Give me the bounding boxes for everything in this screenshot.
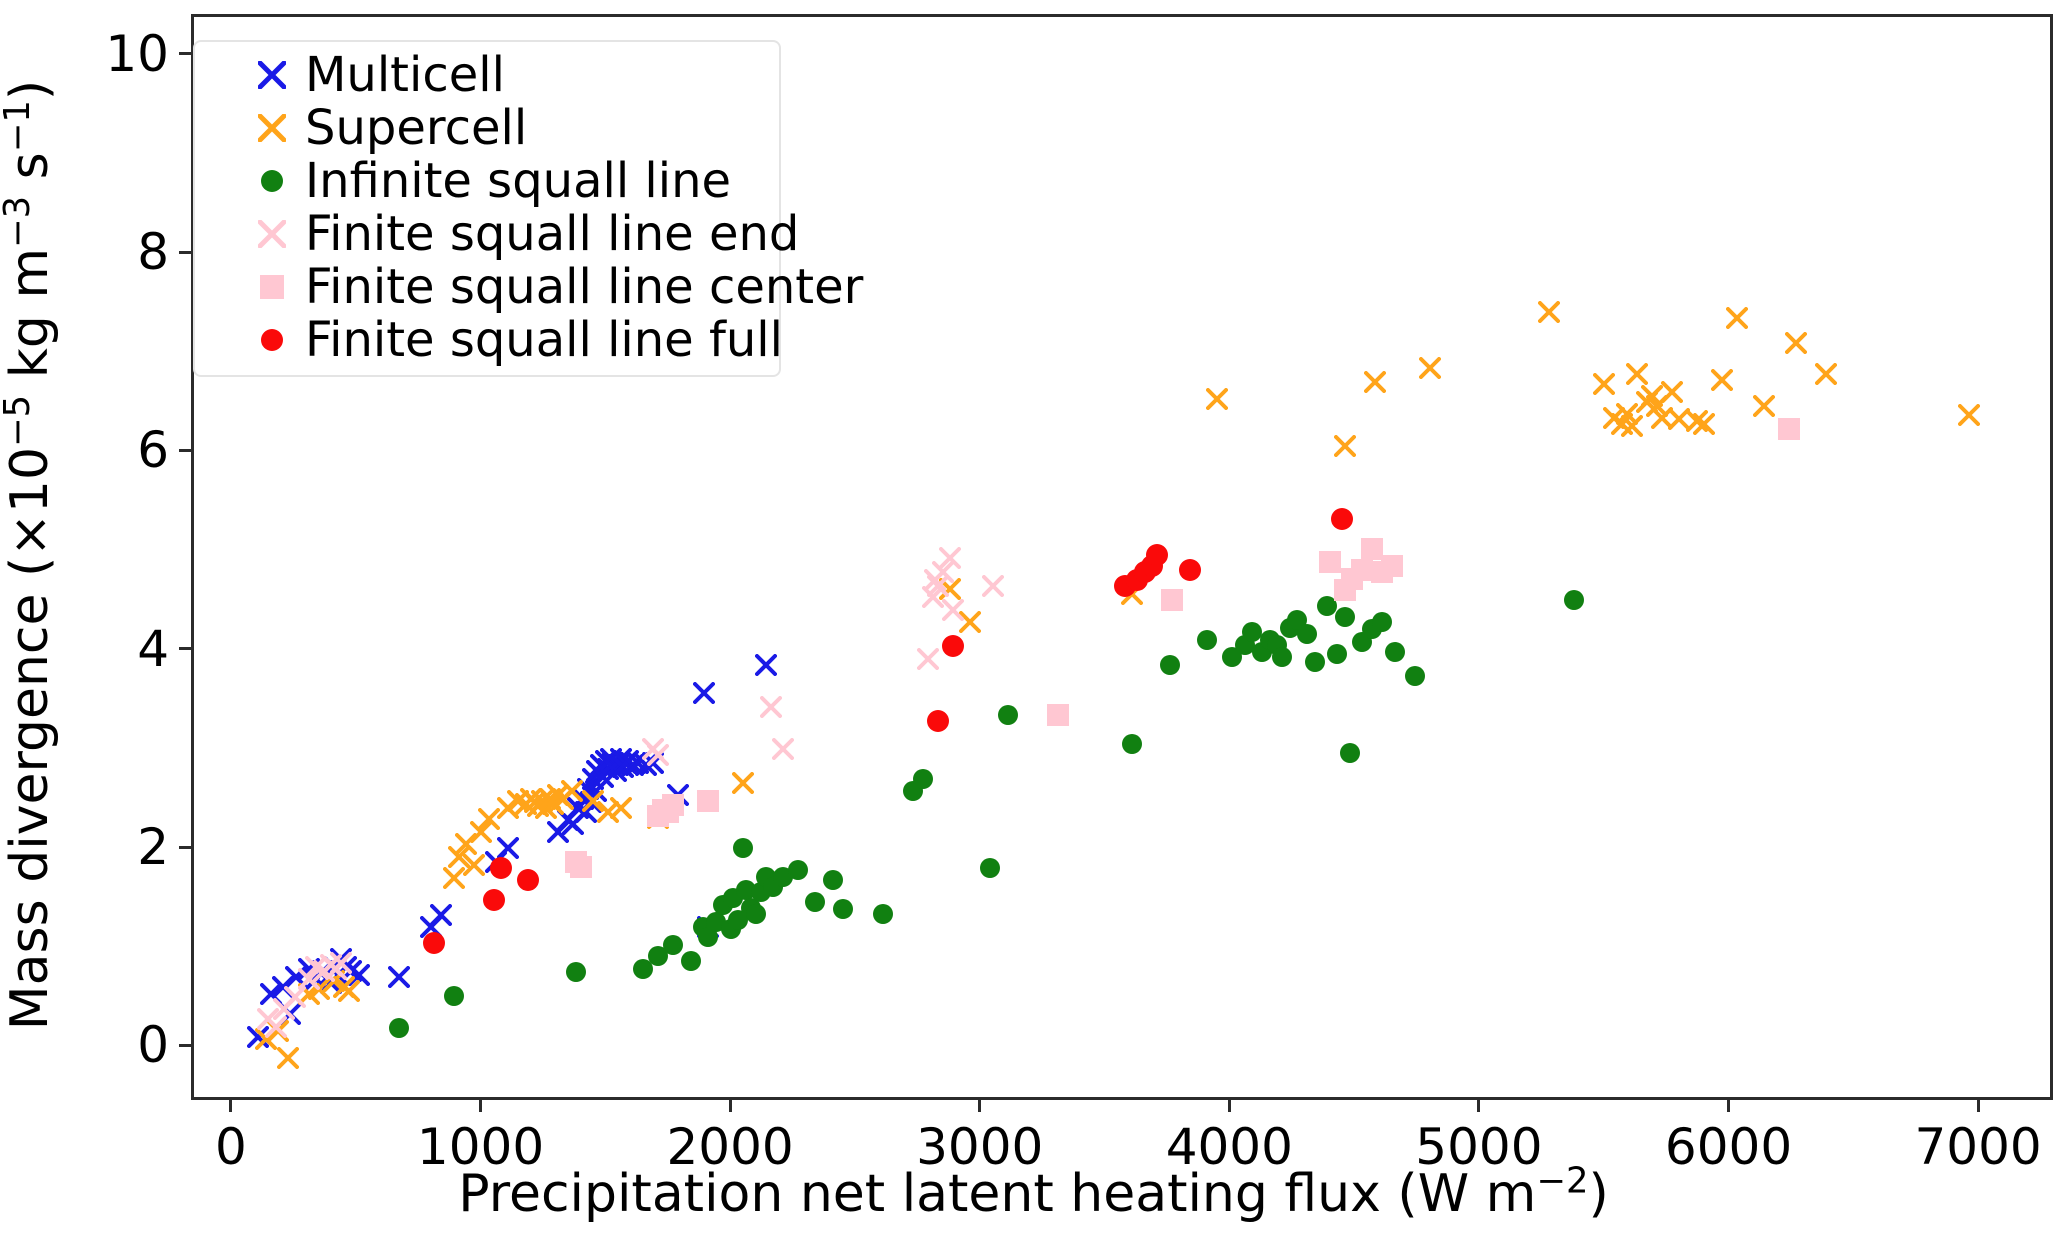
- data-point-cross: [922, 586, 944, 608]
- legend-marker-s: [250, 265, 294, 309]
- data-point-square: [1161, 589, 1183, 611]
- data-point-circle: [389, 1018, 409, 1038]
- data-point-cross: [1626, 363, 1648, 385]
- data-point-circle: [763, 877, 783, 897]
- data-point-cross: [1711, 369, 1733, 391]
- data-point-circle: [1272, 647, 1292, 667]
- data-point-circle: [1126, 569, 1148, 591]
- data-point-cross: [531, 790, 553, 812]
- x-axis-tick-label: 7000: [1914, 1122, 2041, 1172]
- data-point-cross: [298, 958, 320, 980]
- data-point-cross: [627, 752, 649, 774]
- data-point-cross: [330, 952, 352, 974]
- data-point-circle: [746, 904, 766, 924]
- data-point-cross: [455, 833, 477, 855]
- data-point-cross: [577, 778, 599, 800]
- data-point-cross: [615, 752, 637, 774]
- data-point-cross: [595, 750, 617, 772]
- legend-label: Infinite squall line: [305, 154, 731, 208]
- data-point-circle: [1242, 622, 1262, 642]
- data-point-cross: [592, 766, 614, 788]
- y-axis-label-exp1: −5: [0, 395, 38, 447]
- data-point-cross: [602, 752, 624, 774]
- data-point-cross: [257, 1008, 279, 1030]
- data-point-square: [657, 801, 679, 823]
- data-point-cross: [927, 575, 949, 597]
- data-point-square: [1319, 551, 1341, 573]
- data-point-cross: [335, 956, 357, 978]
- data-point-cross: [942, 599, 964, 621]
- data-point-cross: [420, 916, 442, 938]
- data-point-cross: [1785, 332, 1807, 354]
- data-point-circle: [1352, 632, 1372, 652]
- legend-item[interactable]: Finite squall line center: [195, 260, 779, 314]
- data-point-cross: [697, 916, 719, 938]
- data-point-circle: [756, 867, 776, 887]
- data-point-cross: [539, 788, 561, 810]
- data-point-cross: [515, 793, 537, 815]
- data-point-cross: [277, 1047, 299, 1069]
- data-point-cross: [561, 780, 583, 802]
- legend-marker-x: [250, 53, 294, 97]
- data-point-cross: [285, 966, 307, 988]
- data-point-cross: [1686, 410, 1708, 432]
- data-point-cross: [600, 748, 622, 770]
- x-axis-label: Precipitation net latent heating flux (W…: [0, 1168, 2067, 1220]
- data-point-circle: [483, 889, 505, 911]
- x-axis-label-pre: Precipitation net latent heating flux (W…: [458, 1164, 1536, 1224]
- legend-label: Supercell: [305, 101, 527, 155]
- data-point-circle: [751, 882, 771, 902]
- data-point-cross: [308, 978, 330, 1000]
- data-point-cross: [917, 648, 939, 670]
- data-point-cross: [330, 948, 352, 970]
- x-axis-tick-label: 6000: [1665, 1122, 1792, 1172]
- data-point-square: [1371, 561, 1393, 583]
- data-point-cross: [1753, 395, 1775, 417]
- data-point-cross: [1206, 388, 1228, 410]
- data-point-cross: [340, 960, 362, 982]
- data-point-cross: [430, 904, 452, 926]
- data-point-circle: [444, 986, 464, 1006]
- data-point-cross: [247, 1026, 269, 1048]
- data-point-cross: [586, 760, 608, 782]
- data-point-cross: [1611, 413, 1633, 435]
- data-point-circle: [713, 895, 733, 915]
- legend-marker-x: [250, 106, 294, 150]
- data-point-cross: [388, 966, 410, 988]
- data-point-cross: [1621, 415, 1643, 437]
- data-point-square: [1361, 538, 1383, 560]
- data-point-circle: [1280, 618, 1300, 638]
- data-point-cross: [982, 575, 1004, 597]
- data-point-square: [647, 805, 669, 827]
- data-point-cross: [693, 682, 715, 704]
- data-point-cross: [547, 784, 569, 806]
- data-point-cross: [547, 821, 569, 843]
- data-point-cross: [1651, 407, 1673, 429]
- legend-label: Finite squall line end: [305, 207, 799, 261]
- data-point-cross: [612, 756, 634, 778]
- data-point-circle: [261, 170, 283, 192]
- data-point-square: [570, 856, 592, 878]
- legend-item[interactable]: Finite squall line full: [195, 313, 779, 367]
- data-point-cross: [520, 788, 542, 810]
- data-point-cross: [610, 748, 632, 770]
- data-point-circle: [728, 910, 748, 930]
- y-axis-tick: [179, 1044, 191, 1047]
- data-point-cross: [732, 772, 754, 794]
- data-point-cross: [273, 998, 295, 1020]
- data-point-cross: [597, 758, 619, 780]
- data-point-cross: [317, 966, 339, 988]
- data-point-circle: [1405, 666, 1425, 686]
- data-point-circle: [1362, 619, 1382, 639]
- x-axis-tick: [479, 1100, 482, 1112]
- y-axis-label-exp2: −3: [0, 196, 38, 248]
- data-point-cross: [258, 220, 286, 248]
- data-point-circle: [1122, 734, 1142, 754]
- y-axis-tick-label: 8: [137, 227, 169, 277]
- data-point-cross: [622, 754, 644, 776]
- data-point-cross: [535, 797, 557, 819]
- data-point-cross: [582, 768, 604, 790]
- data-point-cross: [1419, 357, 1441, 379]
- data-point-square: [1778, 418, 1800, 440]
- y-axis-tick-label: 6: [137, 425, 169, 475]
- data-point-circle: [1564, 590, 1584, 610]
- data-point-circle: [1267, 635, 1287, 655]
- data-point-cross: [1603, 407, 1625, 429]
- data-point-circle: [736, 880, 756, 900]
- data-point-cross: [585, 780, 607, 802]
- legend-box: MulticellSupercellInfinite squall lineFi…: [193, 40, 781, 377]
- x-axis-tick-label: 0: [215, 1122, 247, 1172]
- data-point-cross: [305, 956, 327, 978]
- data-point-cross: [552, 788, 574, 810]
- data-point-circle: [1260, 630, 1280, 650]
- data-point-cross: [635, 754, 657, 776]
- data-point-circle: [633, 959, 653, 979]
- data-point-cross: [312, 960, 334, 982]
- data-point-cross: [575, 801, 597, 823]
- data-point-cross: [1538, 301, 1560, 323]
- y-axis-tick: [179, 449, 191, 452]
- data-point-circle: [980, 858, 1000, 878]
- data-point-cross: [647, 744, 669, 766]
- data-point-cross: [617, 750, 639, 772]
- data-point-cross: [582, 790, 604, 812]
- data-point-cross: [1593, 373, 1615, 395]
- data-point-cross: [448, 846, 470, 868]
- data-point-circle: [663, 935, 683, 955]
- data-point-square: [652, 799, 674, 821]
- data-point-circle: [927, 710, 949, 732]
- x-axis-tick: [1477, 1100, 1480, 1112]
- data-point-circle: [1372, 612, 1392, 632]
- data-point-square: [565, 851, 587, 873]
- data-point-square: [1341, 568, 1363, 590]
- data-point-cross: [485, 851, 507, 873]
- x-axis-tick: [1727, 1100, 1730, 1112]
- x-axis-tick: [978, 1100, 981, 1112]
- data-point-circle: [873, 904, 893, 924]
- data-point-square: [697, 790, 719, 812]
- data-point-circle: [1114, 575, 1136, 597]
- x-axis-tick: [229, 1100, 232, 1112]
- legend-item[interactable]: Infinite squall line: [195, 154, 779, 208]
- data-point-cross: [313, 960, 335, 982]
- data-point-circle: [823, 870, 843, 890]
- data-point-cross: [557, 809, 579, 831]
- data-point-cross: [605, 760, 627, 782]
- data-point-circle: [1146, 544, 1168, 566]
- x-axis-label-exp: −2: [1536, 1161, 1588, 1202]
- data-point-circle: [423, 932, 445, 954]
- data-point-cross: [1334, 435, 1356, 457]
- data-point-cross: [524, 791, 546, 813]
- y-axis-tick-label: 2: [137, 822, 169, 872]
- y-axis-tick: [179, 251, 191, 254]
- data-point-square: [662, 794, 684, 816]
- data-point-cross: [320, 954, 342, 976]
- data-point-cross: [327, 964, 349, 986]
- data-point-cross: [348, 964, 370, 986]
- data-point-circle: [1160, 655, 1180, 675]
- data-point-cross: [298, 983, 320, 1005]
- data-point-cross: [325, 958, 347, 980]
- data-point-cross: [1815, 363, 1837, 385]
- data-point-circle: [698, 927, 718, 947]
- data-point-cross: [507, 790, 529, 812]
- data-point-cross: [1616, 403, 1638, 425]
- legend-item[interactable]: Finite squall line end: [195, 207, 779, 261]
- data-point-circle: [566, 962, 586, 982]
- data-point-circle: [1179, 559, 1201, 581]
- data-point-cross: [298, 968, 320, 990]
- data-point-cross: [642, 738, 664, 760]
- data-point-circle: [788, 860, 808, 880]
- data-point-circle: [490, 857, 512, 879]
- data-point-square: [260, 275, 284, 299]
- data-point-circle: [903, 781, 923, 801]
- data-point-cross: [258, 114, 286, 142]
- data-point-circle: [648, 946, 668, 966]
- data-point-cross: [567, 797, 589, 819]
- data-point-circle: [1317, 596, 1337, 616]
- data-point-cross: [1636, 391, 1658, 413]
- x-axis-label-post: ): [1588, 1164, 1608, 1224]
- data-point-cross: [580, 791, 602, 813]
- data-point-cross: [272, 976, 294, 998]
- data-point-cross: [760, 696, 782, 718]
- data-point-cross: [320, 972, 342, 994]
- data-point-cross: [305, 968, 327, 990]
- data-point-cross: [642, 752, 664, 774]
- data-point-cross: [1661, 381, 1683, 403]
- legend-label: Multicell: [305, 48, 505, 102]
- data-point-circle: [681, 951, 701, 971]
- data-point-circle: [1335, 607, 1355, 627]
- legend-label: Finite squall line full: [305, 313, 783, 367]
- data-point-circle: [693, 917, 713, 937]
- y-axis-label-post: ): [0, 80, 60, 100]
- data-point-cross: [333, 976, 355, 998]
- data-point-circle: [723, 888, 743, 908]
- data-point-circle: [1287, 610, 1307, 630]
- data-point-cross: [1646, 395, 1668, 417]
- data-point-cross: [590, 754, 612, 776]
- data-point-circle: [1197, 630, 1217, 650]
- data-point-cross: [478, 808, 500, 830]
- legend-item[interactable]: Multicell: [195, 48, 779, 102]
- y-axis-tick: [179, 846, 191, 849]
- data-point-cross: [772, 738, 794, 760]
- data-point-circle: [1235, 635, 1255, 655]
- x-axis-tick: [1977, 1100, 1980, 1112]
- data-point-cross: [497, 797, 519, 819]
- data-point-circle: [741, 898, 761, 918]
- legend-marker-o: [250, 159, 294, 203]
- data-point-square: [1334, 579, 1356, 601]
- data-point-circle: [1385, 642, 1405, 662]
- data-point-cross: [1364, 371, 1386, 393]
- data-point-circle: [1340, 743, 1360, 763]
- data-point-circle: [1222, 647, 1242, 667]
- data-point-cross: [939, 578, 961, 600]
- data-point-cross: [542, 793, 564, 815]
- data-point-square: [1047, 704, 1069, 726]
- data-point-circle: [1141, 555, 1163, 577]
- data-point-cross: [284, 986, 306, 1008]
- data-point-square: [1351, 559, 1373, 581]
- data-point-circle: [517, 869, 539, 891]
- data-point-cross: [1958, 404, 1980, 426]
- x-axis-tick: [1228, 1100, 1231, 1112]
- data-point-circle: [261, 329, 283, 351]
- data-point-cross: [267, 1020, 289, 1042]
- y-axis-label-exp3: −1: [0, 100, 38, 152]
- data-point-cross: [1726, 307, 1748, 329]
- data-point-cross: [597, 801, 619, 823]
- legend-marker-x: [250, 212, 294, 256]
- data-point-cross: [755, 654, 777, 676]
- data-point-circle: [733, 838, 753, 858]
- data-point-cross: [323, 970, 345, 992]
- data-point-circle: [773, 867, 793, 887]
- y-axis-label-pre: Mass divergence (×10: [0, 447, 60, 1030]
- data-point-cross: [959, 611, 981, 633]
- data-point-circle: [913, 769, 933, 789]
- data-point-cross: [279, 1003, 301, 1025]
- data-point-cross: [939, 547, 961, 569]
- data-point-cross: [562, 813, 584, 835]
- data-point-cross: [470, 821, 492, 843]
- y-axis-label: Mass divergence (×10−5 kg m−3 s−1): [4, 80, 56, 1030]
- data-point-cross: [323, 956, 345, 978]
- data-point-circle: [1134, 561, 1156, 583]
- legend-label: Finite squall line center: [305, 260, 863, 314]
- data-point-cross: [1693, 413, 1715, 435]
- figure-canvas: Mass divergence (×10−5 kg m−3 s−1) 01000…: [0, 0, 2067, 1238]
- data-point-cross: [607, 754, 629, 776]
- x-axis-tick: [729, 1100, 732, 1112]
- data-point-cross: [258, 61, 286, 89]
- data-point-cross: [527, 795, 549, 817]
- data-point-circle: [1252, 642, 1272, 662]
- data-point-cross: [1121, 583, 1143, 605]
- legend-marker-o: [250, 318, 294, 362]
- data-point-cross: [338, 980, 360, 1002]
- data-point-cross: [932, 561, 954, 583]
- data-point-cross: [260, 983, 282, 1005]
- y-axis-tick-label: 4: [137, 624, 169, 674]
- data-point-circle: [1305, 652, 1325, 672]
- data-point-cross: [572, 788, 594, 810]
- data-point-cross: [255, 1028, 277, 1050]
- legend-item[interactable]: Supercell: [195, 101, 779, 155]
- data-point-cross: [610, 797, 632, 819]
- data-point-cross: [497, 837, 519, 859]
- data-point-cross: [265, 1016, 287, 1038]
- data-point-circle: [1331, 508, 1353, 530]
- data-point-cross: [1668, 408, 1690, 430]
- data-point-circle: [1297, 624, 1317, 644]
- y-axis-tick: [179, 52, 191, 55]
- data-point-cross: [647, 807, 669, 829]
- y-axis-tick-label: 0: [137, 1020, 169, 1070]
- y-axis-label-mid2: s: [0, 152, 60, 196]
- y-axis-tick-label: 10: [105, 29, 169, 79]
- data-point-cross: [924, 569, 946, 591]
- data-point-circle: [1327, 644, 1347, 664]
- data-point-circle: [706, 912, 726, 932]
- data-point-circle: [805, 892, 825, 912]
- data-point-circle: [942, 635, 964, 657]
- y-axis-tick: [179, 647, 191, 650]
- y-axis-label-mid: kg m: [0, 248, 60, 395]
- data-point-cross: [463, 854, 485, 876]
- data-point-cross: [667, 784, 689, 806]
- data-point-circle: [998, 705, 1018, 725]
- data-point-cross: [1641, 385, 1663, 407]
- data-point-square: [1381, 555, 1403, 577]
- data-point-circle: [721, 919, 741, 939]
- y-axis-label-container: Mass divergence (×10−5 kg m−3 s−1): [0, 0, 60, 1110]
- data-point-circle: [833, 899, 853, 919]
- data-point-cross: [443, 867, 465, 889]
